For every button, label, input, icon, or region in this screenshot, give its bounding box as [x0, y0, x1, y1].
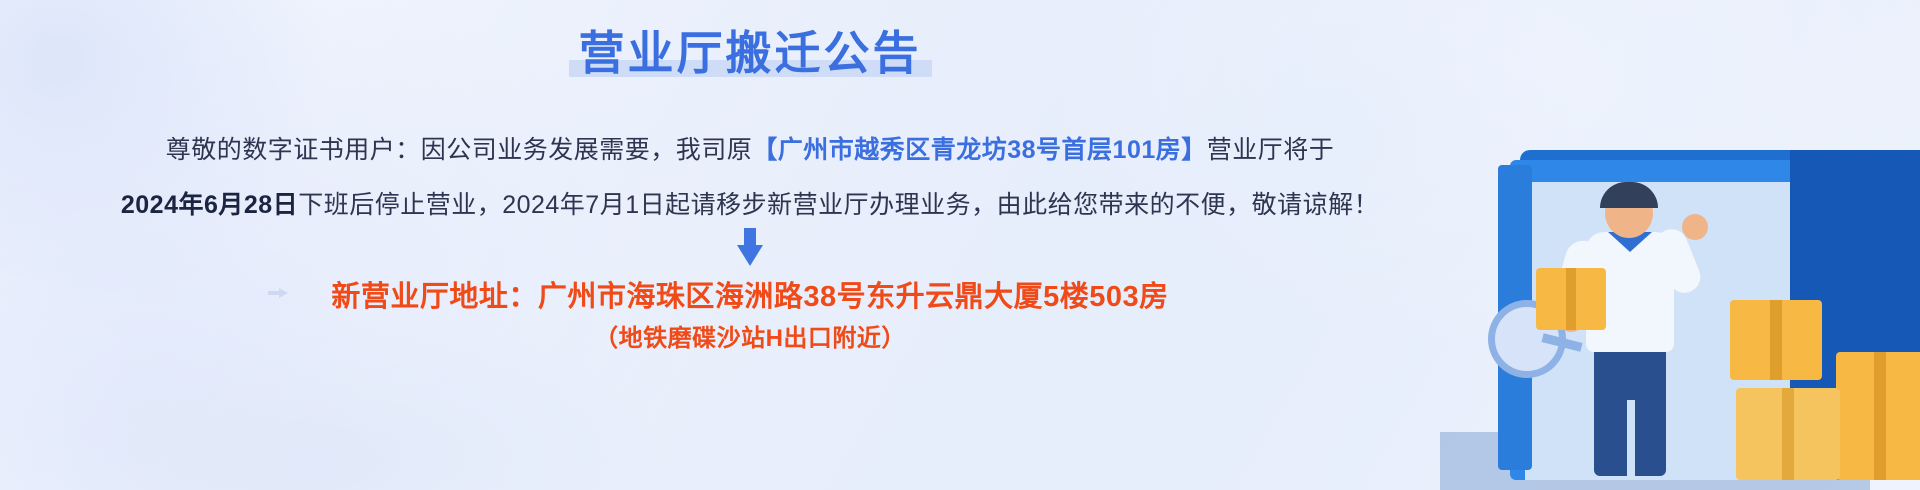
page-title: 营业厅搬迁公告	[573, 28, 928, 79]
cargo-box-lower	[1736, 388, 1840, 480]
announcement-banner: 营业厅搬迁公告 尊敬的数字证书用户：因公司业务发展需要，我司原【广州市越秀区青龙…	[0, 0, 1920, 490]
old-office-address-highlight: 【广州市越秀区青龙坊38号首层101房】	[752, 136, 1207, 164]
worker-leg-gap	[1627, 400, 1635, 476]
carried-box	[1536, 268, 1606, 330]
cargo-box-tall	[1836, 352, 1920, 480]
cargo-box-upper	[1730, 300, 1822, 380]
delivery-truck-illustration	[1400, 0, 1920, 490]
notice-line-2-rest: 下班后停止营业，2024年7月1日起请移步新营业厅办理业务，由此给您带来的不便，…	[298, 191, 1379, 219]
down-arrow-wrap	[0, 228, 1500, 271]
closing-date: 2024年6月28日	[121, 191, 298, 219]
page-title-text: 营业厅搬迁公告	[579, 27, 922, 79]
notice-line-1: 尊敬的数字证书用户：因公司业务发展需要，我司原【广州市越秀区青龙坊38号首层10…	[0, 135, 1500, 166]
banner-text-column: 营业厅搬迁公告 尊敬的数字证书用户：因公司业务发展需要，我司原【广州市越秀区青龙…	[0, 0, 1500, 490]
notice-line-1-before: 尊敬的数字证书用户：因公司业务发展需要，我司原	[166, 136, 753, 164]
worker-right-hand	[1682, 214, 1708, 240]
new-office-address-note: （地铁磨碟沙站H出口附近）	[0, 318, 1500, 353]
new-office-address: 新营业厅地址：广州市海珠区海洲路38号东升云鼎大厦5楼503房	[0, 273, 1500, 315]
down-arrow-icon	[737, 228, 763, 266]
page-title-wrap: 营业厅搬迁公告	[0, 28, 1500, 79]
notice-line-2: 2024年6月28日下班后停止营业，2024年7月1日起请移步新营业厅办理业务，…	[0, 190, 1500, 221]
notice-line-1-after: 营业厅将于	[1207, 136, 1335, 164]
